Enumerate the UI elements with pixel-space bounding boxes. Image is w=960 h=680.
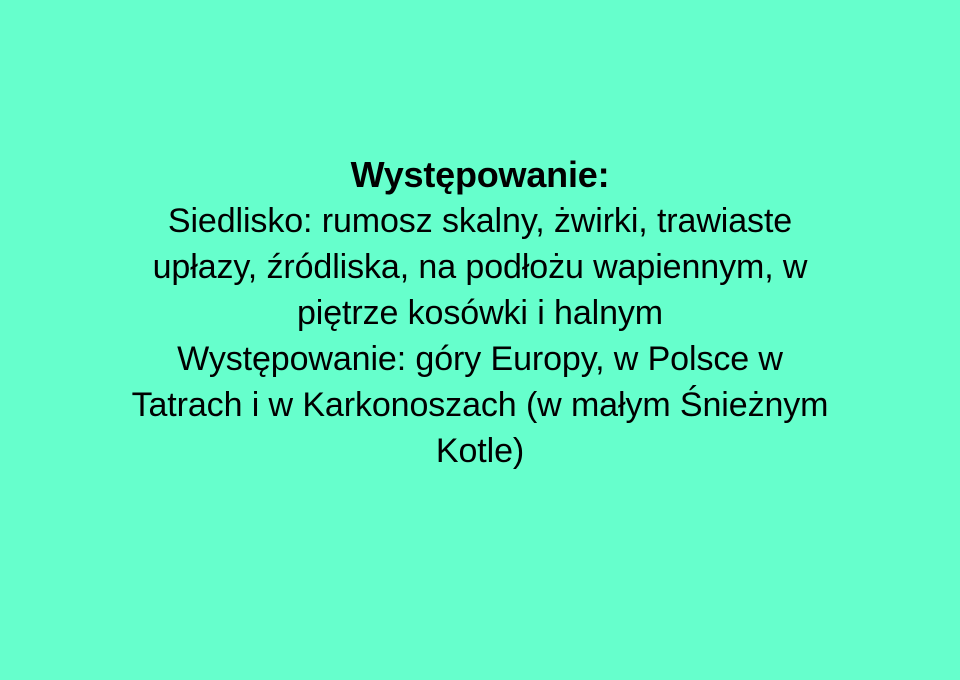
body-line-5: Tatrach i w Karkonoszach (w małym Śnieżn… — [40, 382, 920, 428]
body-line-6: Kotle) — [40, 428, 920, 474]
body-line-4: Występowanie: góry Europy, w Polsce w — [40, 336, 920, 382]
slide-canvas: Występowanie: Siedlisko: rumosz skalny, … — [0, 0, 960, 680]
body-line-2: upłazy, źródliska, na podłożu wapiennym,… — [40, 244, 920, 290]
body-line-1: Siedlisko: rumosz skalny, żwirki, trawia… — [40, 198, 920, 244]
body-line-3: piętrze kosówki i halnym — [40, 290, 920, 336]
slide-title: Występowanie: — [40, 152, 920, 198]
slide-text-block: Występowanie: Siedlisko: rumosz skalny, … — [0, 152, 960, 474]
